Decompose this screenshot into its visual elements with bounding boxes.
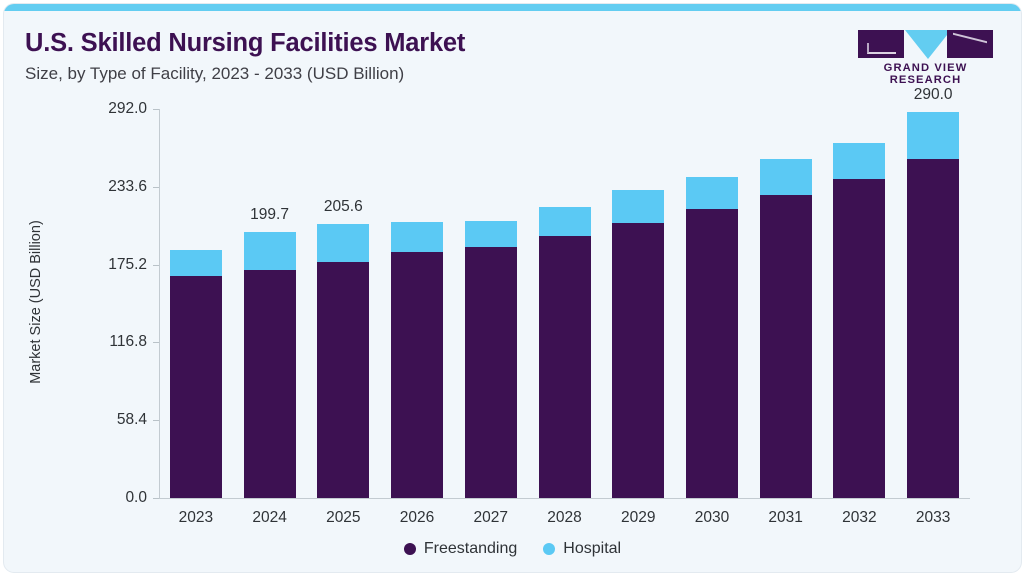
y-axis-title: Market Size (USD Billion) bbox=[28, 152, 44, 452]
y-axis-tick-label: 233.6 bbox=[77, 178, 147, 196]
x-axis-tick-label: 2025 bbox=[326, 509, 360, 527]
x-axis-tick-label: 2023 bbox=[179, 509, 213, 527]
chart-legend: FreestandingHospital bbox=[4, 540, 1021, 558]
bar-stack[interactable] bbox=[539, 207, 591, 498]
x-axis-tick-label: 2032 bbox=[842, 509, 876, 527]
x-axis-tick-label: 2033 bbox=[916, 509, 950, 527]
bar-segment-hospital[interactable] bbox=[686, 177, 738, 209]
bar-segment-freestanding[interactable] bbox=[317, 262, 369, 498]
bar-segment-freestanding[interactable] bbox=[170, 276, 222, 498]
y-axis-tick-label: 58.4 bbox=[77, 411, 147, 429]
bar-segment-hospital[interactable] bbox=[833, 143, 885, 179]
x-axis-tick-label: 2031 bbox=[768, 509, 802, 527]
bar-stack[interactable] bbox=[317, 224, 369, 498]
bar-segment-freestanding[interactable] bbox=[391, 252, 443, 498]
bar-stack[interactable] bbox=[833, 143, 885, 498]
bar-segment-hospital[interactable] bbox=[170, 250, 222, 276]
bar-segment-freestanding[interactable] bbox=[465, 247, 517, 498]
x-axis-tick-label: 2024 bbox=[252, 509, 286, 527]
y-axis-tick-label: 292.0 bbox=[77, 100, 147, 118]
chart-card: U.S. Skilled Nursing Facilities Market S… bbox=[4, 4, 1021, 572]
bar-stack[interactable] bbox=[465, 221, 517, 498]
bar-segment-hospital[interactable] bbox=[760, 159, 812, 195]
bar-stack[interactable] bbox=[244, 232, 296, 498]
y-axis-tick-label: 116.8 bbox=[77, 333, 147, 351]
bar-value-label: 205.6 bbox=[324, 198, 363, 216]
y-axis-tick-mark bbox=[153, 498, 159, 499]
x-axis-line bbox=[159, 498, 970, 499]
y-axis-tick-mark bbox=[153, 420, 159, 421]
legend-color-dot bbox=[543, 543, 555, 555]
x-axis-tick-label: 2029 bbox=[621, 509, 655, 527]
bar-stack[interactable] bbox=[170, 250, 222, 498]
y-axis-tick-mark bbox=[153, 265, 159, 266]
bar-value-label: 290.0 bbox=[914, 86, 953, 104]
x-axis-tick-label: 2026 bbox=[400, 509, 434, 527]
y-axis-tick-label: 175.2 bbox=[77, 256, 147, 274]
bar-segment-freestanding[interactable] bbox=[244, 270, 296, 498]
bar-segment-freestanding[interactable] bbox=[539, 236, 591, 498]
y-axis-tick-mark bbox=[153, 342, 159, 343]
bar-segment-freestanding[interactable] bbox=[686, 209, 738, 498]
x-axis-tick-label: 2027 bbox=[474, 509, 508, 527]
legend-color-dot bbox=[404, 543, 416, 555]
bar-segment-hospital[interactable] bbox=[244, 232, 296, 270]
legend-item[interactable]: Freestanding bbox=[404, 540, 517, 558]
bar-stack[interactable] bbox=[760, 159, 812, 498]
bar-value-label: 199.7 bbox=[250, 206, 289, 224]
bar-segment-hospital[interactable] bbox=[612, 190, 664, 223]
y-axis-tick-mark bbox=[153, 187, 159, 188]
bar-segment-hospital[interactable] bbox=[907, 112, 959, 159]
bar-segment-hospital[interactable] bbox=[539, 207, 591, 236]
bar-segment-freestanding[interactable] bbox=[907, 159, 959, 498]
chart-plot-area: Market Size (USD Billion) 0.058.4116.817… bbox=[4, 4, 1021, 572]
bar-stack[interactable] bbox=[686, 177, 738, 498]
bar-stack[interactable] bbox=[907, 112, 959, 498]
y-axis-tick-label: 0.0 bbox=[77, 489, 147, 507]
bar-segment-hospital[interactable] bbox=[317, 224, 369, 262]
bar-segment-hospital[interactable] bbox=[391, 222, 443, 252]
legend-item[interactable]: Hospital bbox=[543, 540, 621, 558]
bar-stack[interactable] bbox=[391, 222, 443, 498]
y-axis-tick-mark bbox=[153, 109, 159, 110]
x-axis-tick-label: 2030 bbox=[695, 509, 729, 527]
legend-label: Freestanding bbox=[424, 540, 517, 558]
bar-segment-hospital[interactable] bbox=[465, 221, 517, 247]
bar-stack[interactable] bbox=[612, 190, 664, 498]
x-axis-tick-label: 2028 bbox=[547, 509, 581, 527]
y-axis-line bbox=[159, 109, 160, 498]
bar-segment-freestanding[interactable] bbox=[833, 179, 885, 498]
bar-segment-freestanding[interactable] bbox=[612, 223, 664, 498]
bar-segment-freestanding[interactable] bbox=[760, 195, 812, 498]
legend-label: Hospital bbox=[563, 540, 621, 558]
